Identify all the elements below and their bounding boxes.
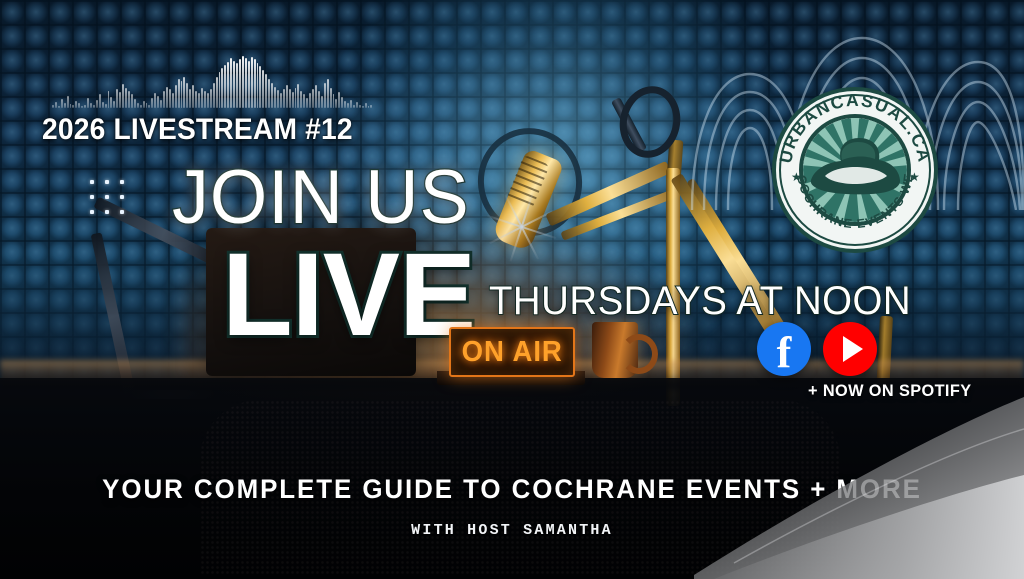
waveform-bar xyxy=(166,87,168,108)
urbancasual-logo-badge[interactable]: URBANCASUAL.CA YOUR COCHRANE EVENTS WEBS… xyxy=(771,86,939,254)
waveform-bar xyxy=(131,94,133,108)
waveform-bar xyxy=(362,106,364,108)
facebook-f-glyph: f xyxy=(777,331,792,375)
waveform-bar xyxy=(350,100,352,108)
waveform-bar xyxy=(55,102,57,108)
waveform-bar xyxy=(347,103,349,108)
waveform-bar xyxy=(303,94,305,108)
waveform-bar xyxy=(125,88,127,108)
waveform-bar xyxy=(353,105,355,108)
waveform-bar xyxy=(116,89,118,108)
waveform-bar xyxy=(280,93,282,108)
waveform-bar xyxy=(72,105,74,108)
waveform-bar xyxy=(315,85,317,108)
waveform-bar xyxy=(151,98,153,108)
waveform-bar xyxy=(277,90,279,108)
waveform-bar xyxy=(201,88,203,108)
waveform-bar xyxy=(99,94,101,108)
waveform-bar xyxy=(356,102,358,108)
waveform-bar xyxy=(78,103,80,108)
waveform-bar xyxy=(221,68,223,108)
facebook-icon[interactable]: f xyxy=(757,322,811,376)
waveform-bar xyxy=(306,98,308,108)
social-links[interactable]: f xyxy=(757,322,877,376)
waveform-bar xyxy=(341,97,343,108)
waveform-bar xyxy=(192,85,194,108)
waveform-bar xyxy=(259,66,261,108)
waveform-bar xyxy=(295,88,297,108)
waveform-bar xyxy=(309,93,311,108)
waveform-bar xyxy=(233,61,235,108)
waveform-bar xyxy=(207,93,209,108)
waveform-bar xyxy=(198,93,200,108)
waveform-bar xyxy=(318,91,320,108)
waveform-bar xyxy=(338,92,340,108)
schedule-text: THURSDAYS AT NOON xyxy=(489,281,911,321)
waveform-bar xyxy=(219,72,221,108)
waveform-bar xyxy=(61,99,63,108)
waveform-bar xyxy=(108,91,110,108)
waveform-bar xyxy=(148,105,150,108)
waveform-bar xyxy=(274,87,276,108)
waveform-bar xyxy=(128,91,130,108)
dot-grid-decoration xyxy=(84,174,130,220)
waveform-bar xyxy=(271,83,273,108)
waveform-bar xyxy=(84,105,86,108)
waveform-bar xyxy=(224,65,226,108)
livestream-promo-banner: 2026 LIVESTREAM #12 JOIN US LIVE THURSDA… xyxy=(0,0,1024,579)
waveform-bar xyxy=(359,105,361,108)
waveform-bar xyxy=(251,57,253,108)
coffee-mug xyxy=(592,322,638,378)
waveform-bar xyxy=(169,89,171,108)
audio-waveform xyxy=(52,56,372,108)
waveform-bar xyxy=(195,91,197,108)
waveform-bar xyxy=(242,56,244,108)
waveform-bar xyxy=(93,105,95,108)
waveform-bar xyxy=(213,83,215,108)
waveform-bar xyxy=(262,70,264,108)
waveform-bar xyxy=(335,99,337,108)
waveform-bar xyxy=(87,98,89,108)
waveform-bar xyxy=(67,96,69,108)
waveform-bar xyxy=(178,79,180,108)
waveform-bar xyxy=(248,61,250,108)
waveform-bar xyxy=(160,100,162,108)
waveform-bar xyxy=(254,59,256,108)
waveform-bar xyxy=(181,81,183,108)
waveform-bar xyxy=(175,85,177,108)
waveform-bar xyxy=(157,96,159,108)
waveform-bar xyxy=(268,79,270,108)
waveform-bar xyxy=(105,104,107,108)
waveform-bar xyxy=(163,91,165,108)
waveform-bar xyxy=(257,63,259,108)
waveform-bar xyxy=(70,104,72,108)
waveform-bar xyxy=(216,77,218,108)
waveform-bar xyxy=(230,58,232,108)
waveform-bar xyxy=(227,62,229,108)
waveform-bar xyxy=(239,59,241,108)
waveform-bar xyxy=(321,96,323,108)
waveform-bar xyxy=(236,63,238,108)
waveform-bar xyxy=(122,84,124,108)
waveform-bar xyxy=(286,85,288,108)
waveform-bar xyxy=(96,100,98,108)
waveform-bar xyxy=(134,99,136,108)
waveform-bar xyxy=(102,102,104,108)
waveform-bar xyxy=(64,103,66,108)
on-air-sign-label: ON AIR xyxy=(461,336,562,369)
waveform-bar xyxy=(289,89,291,108)
youtube-icon[interactable] xyxy=(823,322,877,376)
episode-tag: 2026 LIVESTREAM #12 xyxy=(42,113,353,147)
waveform-bar xyxy=(146,103,148,108)
waveform-bar xyxy=(58,106,60,108)
waveform-bar xyxy=(324,83,326,108)
waveform-bar xyxy=(75,101,77,108)
waveform-bar xyxy=(189,89,191,108)
waveform-bar xyxy=(81,106,83,108)
waveform-bar xyxy=(204,91,206,108)
waveform-bar xyxy=(119,92,121,108)
logo-star-right-icon: ★ xyxy=(909,170,920,184)
waveform-bar xyxy=(140,105,142,108)
waveform-bar xyxy=(368,106,370,108)
waveform-bar xyxy=(154,93,156,108)
headline-live: LIVE xyxy=(222,236,475,354)
waveform-bar xyxy=(245,58,247,108)
waveform-bar xyxy=(344,101,346,108)
waveform-bar xyxy=(52,105,54,108)
waveform-bar xyxy=(137,103,139,108)
waveform-bar xyxy=(297,84,299,108)
corner-swoosh-decoration xyxy=(694,389,1024,579)
waveform-bar xyxy=(210,89,212,108)
waveform-bar xyxy=(283,89,285,108)
on-air-sign: ON AIR xyxy=(449,327,575,377)
waveform-bar xyxy=(113,101,115,108)
waveform-bar xyxy=(330,88,332,108)
waveform-bar xyxy=(186,83,188,108)
waveform-bar xyxy=(300,91,302,108)
waveform-bar xyxy=(333,94,335,108)
youtube-play-glyph xyxy=(843,336,863,362)
waveform-bar xyxy=(143,101,145,108)
logo-star-left-icon: ★ xyxy=(791,170,802,184)
headline-join-us: JOIN US xyxy=(172,160,470,236)
waveform-bar xyxy=(110,97,112,108)
waveform-bar xyxy=(312,89,314,108)
waveform-bar xyxy=(172,93,174,108)
waveform-bar xyxy=(90,103,92,108)
waveform-bar xyxy=(365,103,367,108)
waveform-bar xyxy=(292,92,294,108)
waveform-bar xyxy=(327,79,329,108)
waveform-bar xyxy=(265,74,267,108)
waveform-bar xyxy=(183,77,185,108)
